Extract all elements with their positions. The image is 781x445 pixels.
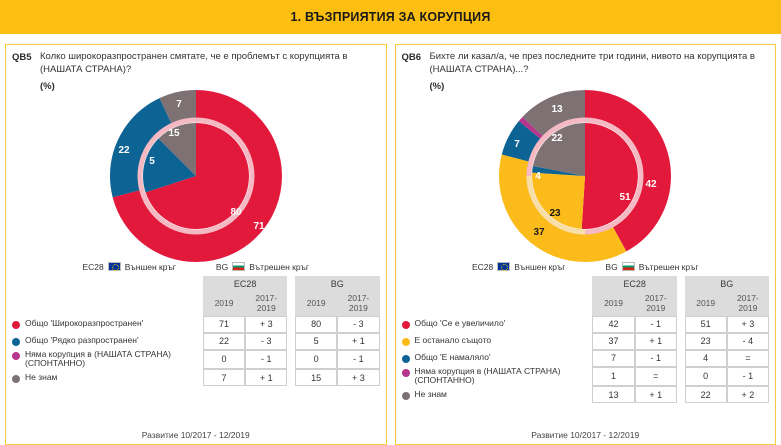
gap-cell [287, 350, 295, 370]
legend-label: Не знам [25, 373, 57, 383]
footer-note-qb6: Развитие 10/2017 - 12/2019 [402, 427, 770, 444]
cell-ec28-2019: 13 [592, 386, 634, 403]
legend-cell: Общо 'Широкоразпространен' [12, 316, 203, 333]
cell-bg-2019: 5 [295, 333, 337, 350]
delta-line-2: 2019 [738, 303, 757, 313]
table-sub-header-row: 2019 2017- 2019 2019 2017- 2019 [12, 292, 380, 316]
gap-cell [677, 367, 685, 387]
cell-bg-delta: + 2 [727, 386, 769, 403]
group-header-bg: BG [295, 276, 379, 292]
ec28-label: EC28 [83, 262, 104, 272]
inner-label-rare: 5 [149, 156, 155, 167]
legend-label: Е останало същото [415, 336, 492, 346]
cell-bg-2019: 15 [295, 369, 337, 386]
gap-cell [677, 386, 685, 403]
ec28-circle-text: Външен кръг [514, 262, 565, 272]
page-title: 1. ВЪЗПРИЯТИЯ ЗА КОРУПЦИЯ [290, 10, 490, 24]
legend-cell: Общо 'Рядко разпространен' [12, 333, 203, 350]
legend-cell: Общо 'Е намаляло' [402, 350, 593, 367]
subheader-ec28-delta: 2017- 2019 [635, 292, 677, 316]
table-row: Е останало същото 37 + 1 23 - 4 [402, 333, 770, 350]
outer-label-rare: 22 [118, 145, 130, 156]
inner-label-same: 23 [550, 208, 562, 219]
cell-ec28-delta: + 1 [635, 333, 677, 350]
legend-dot-icon [12, 321, 20, 329]
eu-flag-icon [108, 262, 121, 271]
table-row: Общо 'Се е увеличило' 42 - 1 51 + 3 [402, 316, 770, 333]
cell-bg-2019: 80 [295, 316, 337, 333]
spacer-cell [402, 276, 593, 292]
cell-ec28-delta: + 1 [635, 386, 677, 403]
table-row: Общо 'Е намаляло' 7 - 1 4 = [402, 350, 770, 367]
legend-cell: Не знам [402, 386, 593, 403]
bg-label: BG [216, 262, 228, 272]
cell-ec28-delta: - 3 [245, 333, 287, 350]
data-table-qb6: EC28 BG 2019 2017- 2019 2019 2017- 201 [402, 276, 770, 404]
legend-dot-icon [402, 392, 410, 400]
subheader-ec28-delta: 2017- 2019 [245, 292, 287, 316]
legend-label: Няма корупция в (НАШАТА СТРАНА) (СПОНТАН… [415, 367, 593, 387]
cell-bg-delta: = [727, 350, 769, 367]
table-sub-header-row: 2019 2017- 2019 2019 2017- 2019 [402, 292, 770, 316]
cell-ec28-delta: - 1 [635, 316, 677, 333]
inner-label-widespread: 80 [230, 207, 242, 218]
legend-label: Общо 'Рядко разпространен' [25, 336, 139, 346]
gap-cell [287, 292, 295, 316]
cell-ec28-2019: 22 [203, 333, 245, 350]
legend-dot-icon [12, 375, 20, 383]
subheader-bg-delta: 2017- 2019 [727, 292, 769, 316]
bg-flag-icon [622, 262, 635, 271]
cell-bg-delta: - 1 [337, 350, 379, 370]
inner-label-dontknow: 15 [168, 128, 180, 139]
panels-container: QB5 Колко широкоразпространен смятате, ч… [0, 34, 781, 445]
delta-line-2: 2019 [257, 303, 276, 313]
panel-qb5: QB5 Колко широкоразпространен смятате, ч… [5, 44, 387, 445]
outer-label-same: 37 [534, 227, 546, 238]
cell-bg-delta: + 1 [337, 333, 379, 350]
legend-dot-icon [402, 369, 410, 377]
bg-circle-text: Вътрешен кръг [639, 262, 699, 272]
table-row: Общо 'Широкоразпространен' 71 + 3 80 - 3 [12, 316, 380, 333]
subheader-bg-year: 2019 [295, 292, 337, 316]
cell-ec28-2019: 7 [592, 350, 634, 367]
gap-cell [677, 350, 685, 367]
subheader-ec28-year: 2019 [592, 292, 634, 316]
cell-bg-delta: + 3 [727, 316, 769, 333]
cell-bg-2019: 23 [685, 333, 727, 350]
legend-dot-icon [402, 355, 410, 363]
question-code-qb6: QB6 [402, 51, 424, 63]
cell-ec28-2019: 7 [203, 369, 245, 386]
table-row: Не знам 13 + 1 22 + 2 [402, 386, 770, 403]
gap-cell [677, 292, 685, 316]
legend-cell: Няма корупция в (НАШАТА СТРАНА) (СПОНТАН… [402, 367, 593, 387]
group-header-ec28: EC28 [203, 276, 287, 292]
cell-ec28-delta: - 1 [635, 350, 677, 367]
cell-ec28-2019: 37 [592, 333, 634, 350]
question-text-qb5: Колко широкоразпространен смятате, че е … [40, 51, 380, 77]
donut-chart-qb6: 42 37 7 13 51 23 4 22 [402, 92, 770, 260]
cell-ec28-2019: 1 [592, 367, 634, 387]
gap-cell [677, 316, 685, 333]
legend-cell: Общо 'Се е увеличило' [402, 316, 593, 333]
ec28-circle-text: Външен кръг [125, 262, 176, 272]
spacer-cell [12, 276, 203, 292]
ec28-label: EC28 [472, 262, 493, 272]
cell-bg-delta: - 3 [337, 316, 379, 333]
circle-legend-qb6: EC28 Външен кръг BG Вътрешен кръг [402, 262, 770, 272]
outer-label-decreased: 7 [514, 139, 520, 150]
bg-flag-icon [232, 262, 245, 271]
delta-line-2: 2019 [349, 303, 368, 313]
legend-cell: Е останало същото [402, 333, 593, 350]
cell-bg-2019: 0 [295, 350, 337, 370]
subheader-ec28-year: 2019 [203, 292, 245, 316]
inner-label-dontknow: 22 [552, 133, 564, 144]
cell-ec28-delta: - 1 [245, 350, 287, 370]
donut-chart-qb5: 71 22 7 80 5 15 [12, 92, 380, 260]
legend-label: Общо 'Се е увеличило' [415, 319, 506, 329]
circle-legend-qb5: EC28 Външен кръг BG Вътрешен кръг [12, 262, 380, 272]
gap-cell [677, 333, 685, 350]
table-row: Не знам 7 + 1 15 + 3 [12, 369, 380, 386]
data-table-qb5: EC28 BG 2019 2017- 2019 2019 2017- 201 [12, 276, 380, 387]
donut-svg-qb5: 71 22 7 80 5 15 [110, 90, 282, 262]
inner-label-decreased: 4 [535, 171, 541, 182]
subheader-bg-year: 2019 [685, 292, 727, 316]
cell-ec28-delta: + 1 [245, 369, 287, 386]
cell-ec28-2019: 42 [592, 316, 634, 333]
legend-label: Общо 'Е намаляло' [415, 353, 491, 363]
outer-label-increased: 42 [646, 179, 658, 190]
cell-bg-delta: - 4 [727, 333, 769, 350]
outer-label-dontknow: 7 [176, 99, 182, 110]
legend-label: Няма корупция в (НАШАТА СТРАНА) (СПОНТАН… [25, 350, 203, 370]
footer-note-qb5: Развитие 10/2017 - 12/2019 [12, 427, 380, 444]
bg-label: BG [605, 262, 617, 272]
table-group-header-row: EC28 BG [402, 276, 770, 292]
bg-circle-text: Вътрешен кръг [249, 262, 309, 272]
cell-bg-2019: 51 [685, 316, 727, 333]
spacer-cell [12, 292, 203, 316]
cell-bg-2019: 4 [685, 350, 727, 367]
gap-cell [287, 369, 295, 386]
subheader-bg-delta: 2017- 2019 [337, 292, 379, 316]
legend-cell: Не знам [12, 369, 203, 386]
group-header-ec28: EC28 [592, 276, 676, 292]
legend-label: Не знам [415, 390, 447, 400]
inner-label-increased: 51 [620, 192, 632, 203]
outer-label-dontknow: 13 [552, 104, 564, 115]
cell-ec28-delta: + 3 [245, 316, 287, 333]
table-row: Общо 'Рядко разпространен' 22 - 3 5 + 1 [12, 333, 380, 350]
legend-dot-icon [12, 352, 20, 360]
gap-cell [677, 276, 685, 292]
panel-qb6: QB6 Бихте ли казал/а, че през последните… [395, 44, 777, 445]
legend-cell: Няма корупция в (НАШАТА СТРАНА) (СПОНТАН… [12, 350, 203, 370]
gap-cell [287, 316, 295, 333]
legend-dot-icon [402, 321, 410, 329]
inner-pie-bg [532, 123, 638, 229]
question-text-qb6: Бихте ли казал/а, че през последните три… [430, 51, 770, 77]
cell-ec28-2019: 71 [203, 316, 245, 333]
table-row: Няма корупция в (НАШАТА СТРАНА) (СПОНТАН… [12, 350, 380, 370]
cell-bg-2019: 0 [685, 367, 727, 387]
question-header-qb5: QB5 Колко широкоразпространен смятате, ч… [12, 51, 380, 77]
spacer-cell [402, 292, 593, 316]
table-group-header-row: EC28 BG [12, 276, 380, 292]
gap-cell [287, 276, 295, 292]
cell-bg-2019: 22 [685, 386, 727, 403]
cell-ec28-2019: 0 [203, 350, 245, 370]
question-code-qb5: QB5 [12, 51, 34, 63]
outer-label-widespread: 71 [253, 221, 265, 232]
legend-dot-icon [12, 338, 20, 346]
cell-ec28-delta: = [635, 367, 677, 387]
group-header-bg: BG [685, 276, 769, 292]
section-header: 1. ВЪЗПРИЯТИЯ ЗА КОРУПЦИЯ [0, 0, 781, 34]
table-row: Няма корупция в (НАШАТА СТРАНА) (СПОНТАН… [402, 367, 770, 387]
delta-line-2: 2019 [646, 303, 665, 313]
gap-cell [287, 333, 295, 350]
eu-flag-icon [497, 262, 510, 271]
donut-svg-qb6: 42 37 7 13 51 23 4 22 [499, 90, 671, 262]
question-header-qb6: QB6 Бихте ли казал/а, че през последните… [402, 51, 770, 77]
legend-dot-icon [402, 338, 410, 346]
cell-bg-delta: + 3 [337, 369, 379, 386]
legend-label: Общо 'Широкоразпространен' [25, 319, 143, 329]
cell-bg-delta: - 1 [727, 367, 769, 387]
